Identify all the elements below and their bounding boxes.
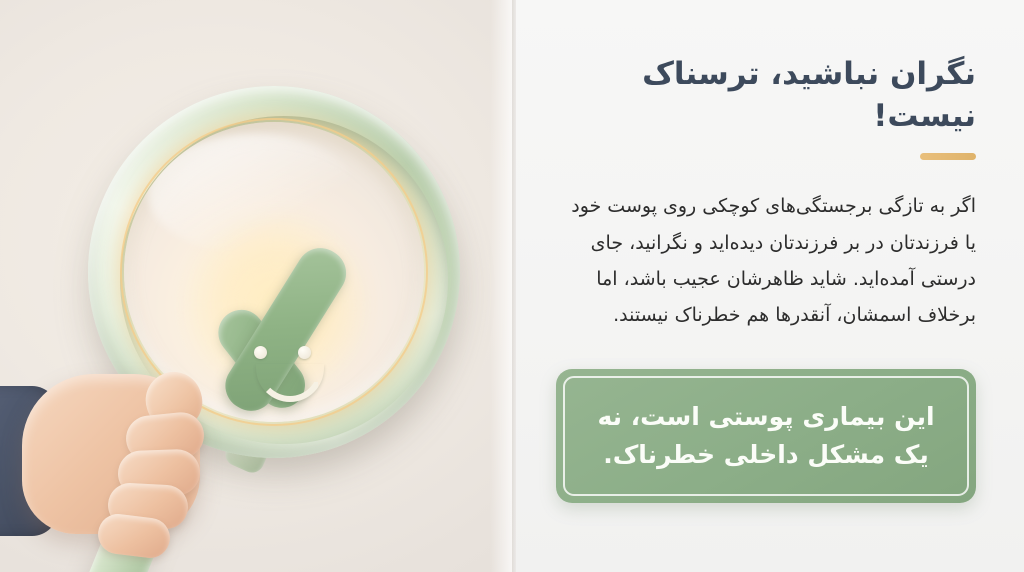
body-paragraph: اگر به تازگی برجستگی‌های کوچکی روی پوست …	[556, 160, 976, 334]
slide-canvas: نگران نباشید، ترسناک نیست! اگر به تازگی …	[0, 0, 1024, 572]
hand-illustration	[0, 368, 250, 572]
illustration-panel	[0, 0, 516, 572]
callout-text: این بیماری پوستی است، نه یک مشکل داخلی خ…	[565, 398, 967, 474]
eye-left-icon	[254, 346, 267, 359]
accent-divider	[920, 153, 976, 160]
smiley-face-icon	[250, 346, 326, 392]
callout-box: این بیماری پوستی است، نه یک مشکل داخلی خ…	[556, 369, 976, 503]
content-column: نگران نباشید، ترسناک نیست! اگر به تازگی …	[556, 0, 976, 572]
page-title: نگران نباشید، ترسناک نیست!	[556, 0, 976, 137]
callout-inner-border: این بیماری پوستی است، نه یک مشکل داخلی خ…	[563, 376, 969, 496]
eye-right-icon	[298, 346, 311, 359]
lens-sheen	[148, 134, 358, 254]
content-panel: نگران نباشید، ترسناک نیست! اگر به تازگی …	[516, 0, 1024, 572]
